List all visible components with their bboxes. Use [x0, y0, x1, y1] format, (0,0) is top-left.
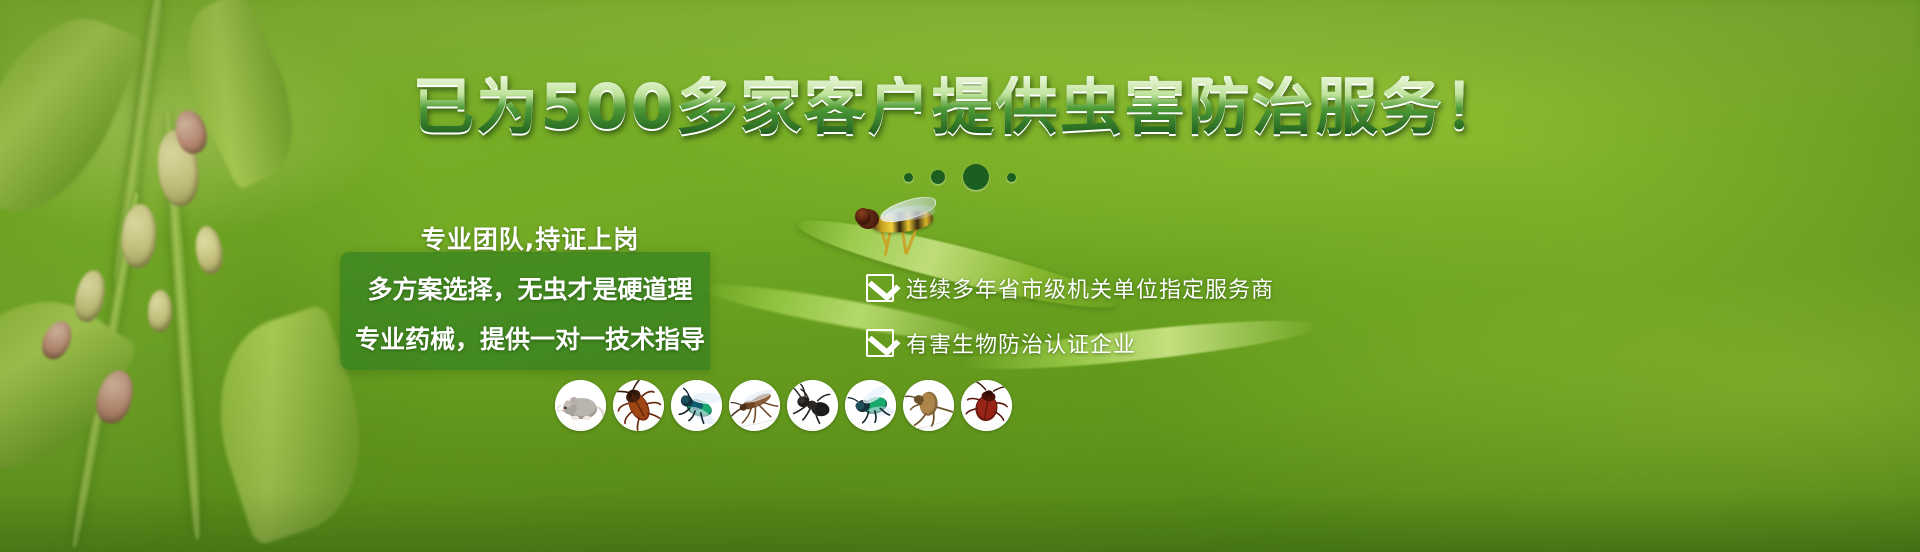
dot-large-icon: [963, 164, 989, 190]
credentials-list: 连续多年省市级机关单位指定服务商 有害生物防治认证企业: [866, 272, 1296, 359]
selling-point-3: 专业药械，提供一对一技术指导: [340, 320, 720, 356]
checkbox-checked-icon: [866, 274, 894, 302]
list-item: 连续多年省市级机关单位指定服务商: [866, 272, 1296, 304]
mouse-icon: [555, 380, 606, 431]
selling-points-list: 专业团队,持证上岗 多方案选择，无虫才是硬道理 专业药械，提供一对一技术指导: [340, 212, 720, 372]
pest-control-banner: 已为500多家客户提供虫害防治服务！ 已为500多家客户提供虫害防治服务！ 专业…: [0, 0, 1920, 552]
green-fly-icon: [845, 380, 896, 431]
dot-medium-icon: [931, 170, 945, 184]
ant-icon: [787, 380, 838, 431]
cockroach-icon: [613, 380, 664, 431]
dot-small-icon: [904, 173, 913, 182]
credential-label: 连续多年省市级机关单位指定服务商: [906, 272, 1274, 304]
bedbug-icon: [961, 380, 1012, 431]
hoverfly-icon: [845, 196, 965, 258]
credential-label: 有害生物防治认证企业: [906, 327, 1136, 359]
flea-icon: [903, 380, 954, 431]
blowfly-icon: [671, 380, 722, 431]
selling-point-2: 多方案选择，无虫才是硬道理: [340, 270, 720, 306]
selling-point-1: 专业团队,持证上岗: [340, 220, 720, 256]
checkbox-checked-icon: [866, 329, 894, 357]
decorative-dots: [0, 164, 1920, 190]
list-item: 有害生物防治认证企业: [866, 327, 1296, 359]
pest-icon-row: [555, 376, 1025, 434]
dot-small-icon: [1007, 173, 1016, 182]
mosquito-icon: [729, 380, 780, 431]
